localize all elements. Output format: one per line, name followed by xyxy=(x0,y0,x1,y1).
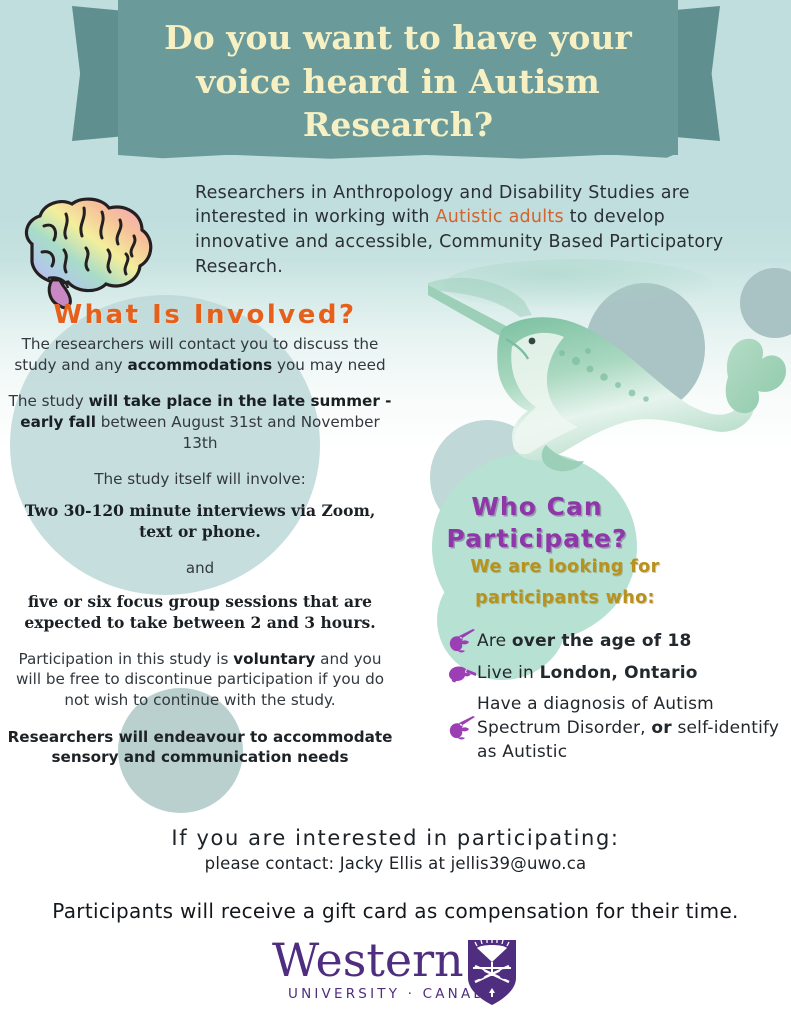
watercolor-narwhal-icon xyxy=(428,255,788,505)
western-university-logo: Western UNIVERSITY · CANADA xyxy=(272,932,522,1012)
footer-contact-line: please contact: Jacky Ellis at jellis39@… xyxy=(0,854,791,873)
involved-p7-bold: voluntary xyxy=(233,650,315,668)
poster-canvas: Do you want to have your voice heard in … xyxy=(0,0,791,1023)
item2-bold: or xyxy=(651,718,671,738)
list-item: Live in London, Ontario xyxy=(447,660,787,686)
involved-paragraph-6: five or six focus group sessions that ar… xyxy=(6,591,394,633)
intro-paragraph: Researchers in Anthropology and Disabili… xyxy=(195,181,755,280)
who-can-participate-subheading: We are looking for participants who: xyxy=(440,552,690,613)
involved-paragraph-8: Researchers will endeavour to accommodat… xyxy=(6,727,394,768)
rainbow-brain-icon xyxy=(8,192,168,312)
involved-p1-bold: accommodations xyxy=(128,356,273,374)
logo-tagline: UNIVERSITY · CANADA xyxy=(288,986,499,1002)
who-heading-line-2: Participate? xyxy=(437,523,637,555)
involved-p7-text1: Participation in this study is xyxy=(19,650,234,668)
narwhal-icon xyxy=(447,715,477,741)
poster-title: Do you want to have your voice heard in … xyxy=(118,16,678,147)
involved-paragraph-3: The study itself will involve: xyxy=(6,469,394,490)
involved-paragraph-1: The researchers will contact you to disc… xyxy=(6,334,394,375)
involved-paragraph-5: and xyxy=(6,558,394,578)
intro-highlight: Autistic adults xyxy=(436,207,564,227)
involved-p2-text1: The study xyxy=(9,392,89,410)
involved-p1-text2: you may need xyxy=(272,356,385,374)
narwhal-icon xyxy=(447,628,477,654)
list-item: Are over the age of 18 xyxy=(447,628,787,654)
list-item: Have a diagnosis of Autism Spectrum Diso… xyxy=(447,692,787,764)
involved-paragraph-4: Two 30-120 minute interviews via Zoom, t… xyxy=(6,500,394,542)
list-item-text: Are over the age of 18 xyxy=(477,630,692,652)
who-heading-line-1: Who Can xyxy=(437,491,637,523)
contact-footer: If you are interested in participating: … xyxy=(0,826,791,923)
footer-compensation-line: Participants will receive a gift card as… xyxy=(0,899,791,923)
narwhal-icon xyxy=(447,660,477,686)
involved-p2-text2: between August 31st and November 13th xyxy=(96,413,380,452)
title-line-1: Do you want to have your xyxy=(118,16,678,60)
logo-wordmark: Western xyxy=(272,933,464,987)
eligibility-list: Are over the age of 18 Live in London, O… xyxy=(447,628,787,770)
list-item-text: Live in London, Ontario xyxy=(477,662,698,684)
title-line-3: Research? xyxy=(118,103,678,147)
item0-bold: over the age of 18 xyxy=(512,631,692,651)
who-sub-line-2: participants who: xyxy=(440,583,690,614)
item0-plain1: Are xyxy=(477,631,512,651)
what-is-involved-section: What Is Involved? The researchers will c… xyxy=(0,300,400,784)
what-is-involved-heading: What Is Involved? xyxy=(10,300,400,330)
involved-paragraph-2: The study will take place in the late su… xyxy=(6,391,394,453)
item1-plain1: Live in xyxy=(477,663,540,683)
list-item-text: Have a diagnosis of Autism Spectrum Diso… xyxy=(477,692,787,764)
title-line-2: voice heard in Autism xyxy=(118,60,678,104)
involved-paragraph-7: Participation in this study is voluntary… xyxy=(6,649,394,711)
who-can-participate-heading: Who Can Participate? xyxy=(437,491,637,555)
who-sub-line-1: We are looking for xyxy=(440,552,690,583)
footer-line-1: If you are interested in participating: xyxy=(0,826,791,850)
item1-bold: London, Ontario xyxy=(540,663,698,683)
